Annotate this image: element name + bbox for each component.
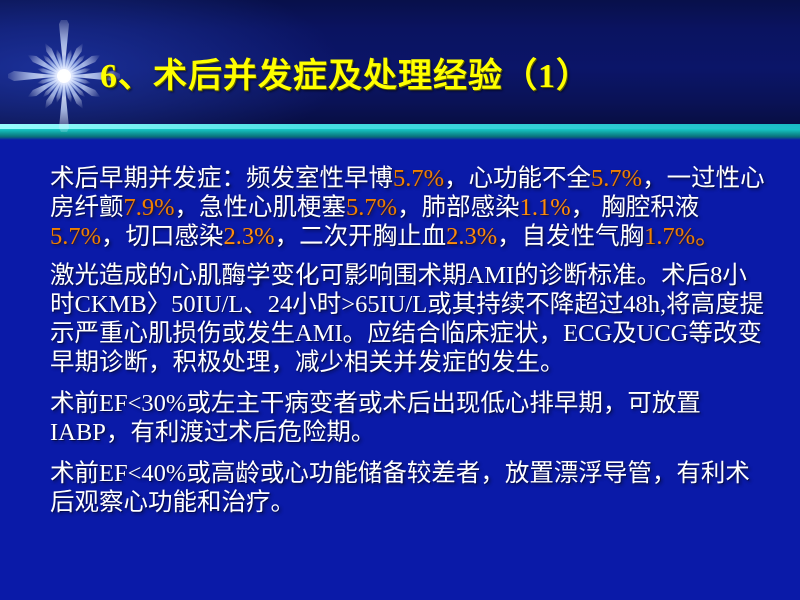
body-text-run: 术后早期并发症：频发室性早博 [50, 165, 393, 192]
body-text-run: 激光造成的心肌酶学变化可影响围术期AMI的诊断标准。术后8小时CKMB〉50IU… [50, 262, 764, 376]
presentation-slide: 6、术后并发症及处理经验（1） 术后早期并发症：频发室性早博5.7%，心功能不全… [0, 0, 800, 600]
paragraph-early-complications: 术后早期并发症：频发室性早博5.7%，心功能不全5.7%，一过性心房纤颤7.9%… [50, 164, 770, 251]
body-text-run: ，急性心肌梗塞 [175, 194, 347, 221]
body-text-run: 术前EF<40%或高龄或心功能储备较差者，放置漂浮导管，有利术后观察心功能和治疗… [50, 460, 750, 516]
paragraph-iabp-indication: 术前EF<30%或左主干病变者或术后出现低心排早期，可放置IABP，有利渡过术后… [50, 389, 770, 447]
highlighted-value: 2.3% [446, 223, 497, 250]
paragraph-enzyme-changes: 激光造成的心肌酶学变化可影响围术期AMI的诊断标准。术后8小时CKMB〉50IU… [50, 261, 770, 377]
body-text-run: ，自发性气胸 [497, 223, 644, 250]
title-underline-rule [0, 124, 800, 140]
body-text-run: ，切口感染 [101, 223, 224, 250]
highlighted-value: 。 [695, 223, 720, 250]
paragraph-swan-ganz-indication: 术前EF<40%或高龄或心功能储备较差者，放置漂浮导管，有利术后观察心功能和治疗… [50, 459, 770, 517]
slide-body: 术后早期并发症：频发室性早博5.7%，心功能不全5.7%，一过性心房纤颤7.9%… [50, 164, 770, 517]
body-text-run: ，心功能不全 [444, 165, 591, 192]
highlighted-value: 1.7% [644, 223, 695, 250]
body-text-run: ， 胸腔积液 [571, 194, 700, 221]
body-text-run: ，二次开胸止血 [275, 223, 447, 250]
slide-title: 6、术后并发症及处理经验（1） [100, 57, 740, 97]
highlighted-value: 5.7% [393, 165, 444, 192]
body-text-run: 术前EF<30%或左主干病变者或术后出现低心排早期，可放置IABP，有利渡过术后… [50, 390, 701, 446]
highlighted-value: 7.9% [124, 194, 175, 221]
body-text-run: ，肺部感染 [397, 194, 520, 221]
highlighted-value: 5.7% [346, 194, 397, 221]
highlighted-value: 5.7% [591, 165, 642, 192]
highlighted-value: 5.7% [50, 223, 101, 250]
highlighted-value: 2.3% [224, 223, 275, 250]
highlighted-value: 1.1% [520, 194, 571, 221]
